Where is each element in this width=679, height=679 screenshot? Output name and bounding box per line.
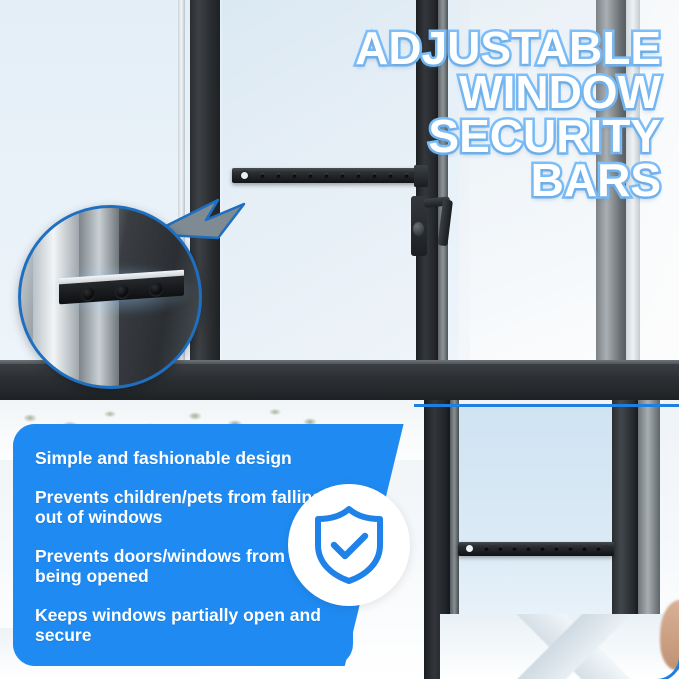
- bottom-panel-top-border: [414, 404, 679, 407]
- product-title: ADJUSTABLE WINDOW SECURITY BARS: [221, 26, 661, 202]
- security-bar-hole: [554, 546, 559, 551]
- feature-item-1: Simple and fashionable design: [35, 448, 325, 468]
- security-bar-hole: [498, 546, 503, 551]
- feature-item-4: Keeps windows partially open and secure: [35, 605, 325, 645]
- security-bar-hole: [540, 546, 545, 551]
- security-bar-pin: [466, 545, 473, 552]
- title-line-1: ADJUSTABLE: [221, 26, 661, 70]
- mountain-view: [440, 614, 679, 679]
- security-bar-hole: [596, 546, 601, 551]
- bar-hole: [115, 284, 129, 299]
- product-marketing-image: ADJUSTABLE WINDOW SECURITY BARS: [0, 0, 679, 679]
- feature-item-2: Prevents children/pets from falling out …: [35, 487, 325, 527]
- feature-item-3: Prevents doors/windows from being opened: [35, 546, 325, 586]
- security-bar-lower: [458, 542, 614, 556]
- title-line-3: SECURITY: [221, 114, 661, 158]
- security-bar-hole: [526, 546, 531, 551]
- security-badge: [288, 484, 410, 606]
- security-bar-hole: [568, 546, 573, 551]
- magnifier-inset-circle: [18, 205, 202, 389]
- title-line-2: WINDOW: [221, 70, 661, 114]
- title-line-4: BARS: [221, 158, 661, 202]
- bar-hole: [149, 282, 163, 297]
- security-bar-hole: [582, 546, 587, 551]
- bar-hole: [81, 287, 95, 302]
- security-bar-hole: [512, 546, 517, 551]
- feature-list: Simple and fashionable design Prevents c…: [35, 448, 325, 645]
- security-bar-hole: [484, 546, 489, 551]
- background-person: [660, 600, 679, 670]
- window-lock-knob: [413, 222, 424, 236]
